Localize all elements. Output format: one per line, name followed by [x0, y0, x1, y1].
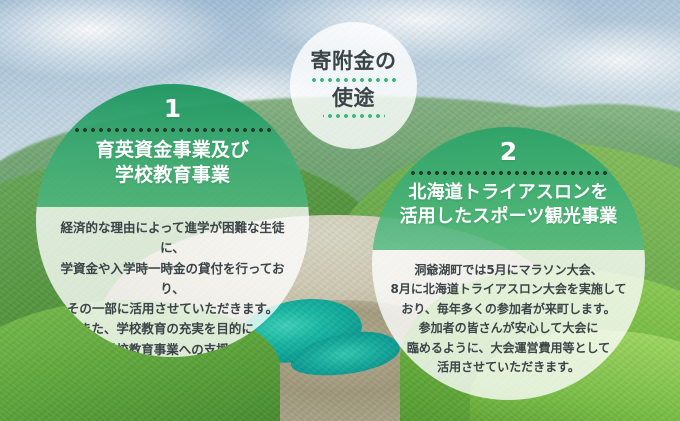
usage-2-divider-dots-icon: [411, 171, 607, 175]
usage-1-heading: 育英資金事業及び 学校教育事業: [96, 138, 250, 189]
usage-circle-1: 1 育英資金事業及び 学校教育事業 経済的な理由によって進学が困難な生徒に、 学…: [36, 84, 309, 357]
title-line-1: 寄附金の: [311, 49, 397, 74]
usage-circle-2: 2 北海道トライアスロンを 活用したスポーツ観光事業 洞爺湖町では5月にマラソン…: [372, 127, 645, 400]
title-line-2: 使途: [332, 86, 375, 111]
title-divider-2-dots-icon: [323, 114, 385, 118]
usage-2-heading: 北海道トライアスロンを 活用したスポーツ観光事業: [399, 181, 617, 229]
usage-1-header: 1 育英資金事業及び 学校教育事業: [36, 84, 309, 207]
usage-1-divider-dots-icon: [75, 128, 271, 132]
usage-1-body-text: 経済的な理由によって進学が困難な生徒に、 学資金や入学時一時金の貸付を行っており…: [36, 218, 309, 357]
title-divider-1-dots-icon: [308, 78, 400, 82]
poster-root: 洞爺湖の火山クレーターと緑の山々 寄附金の 使途 1 育英資金事業及び 学校教育…: [0, 0, 680, 421]
usage-2-number: 2: [500, 139, 517, 164]
usage-1-body-panel: 経済的な理由によって進学が困難な生徒に、 学資金や入学時一時金の貸付を行っており…: [36, 207, 309, 357]
usage-2-header: 2 北海道トライアスロンを 活用したスポーツ観光事業: [372, 127, 645, 250]
usage-2-body-panel: 洞爺湖町では5月にマラソン大会、 8月に北海道トライアスロン大会を実施して おり…: [372, 250, 645, 400]
usage-1-number: 1: [164, 96, 181, 121]
usage-2-body-text: 洞爺湖町では5月にマラソン大会、 8月に北海道トライアスロン大会を実施して おり…: [381, 261, 637, 378]
